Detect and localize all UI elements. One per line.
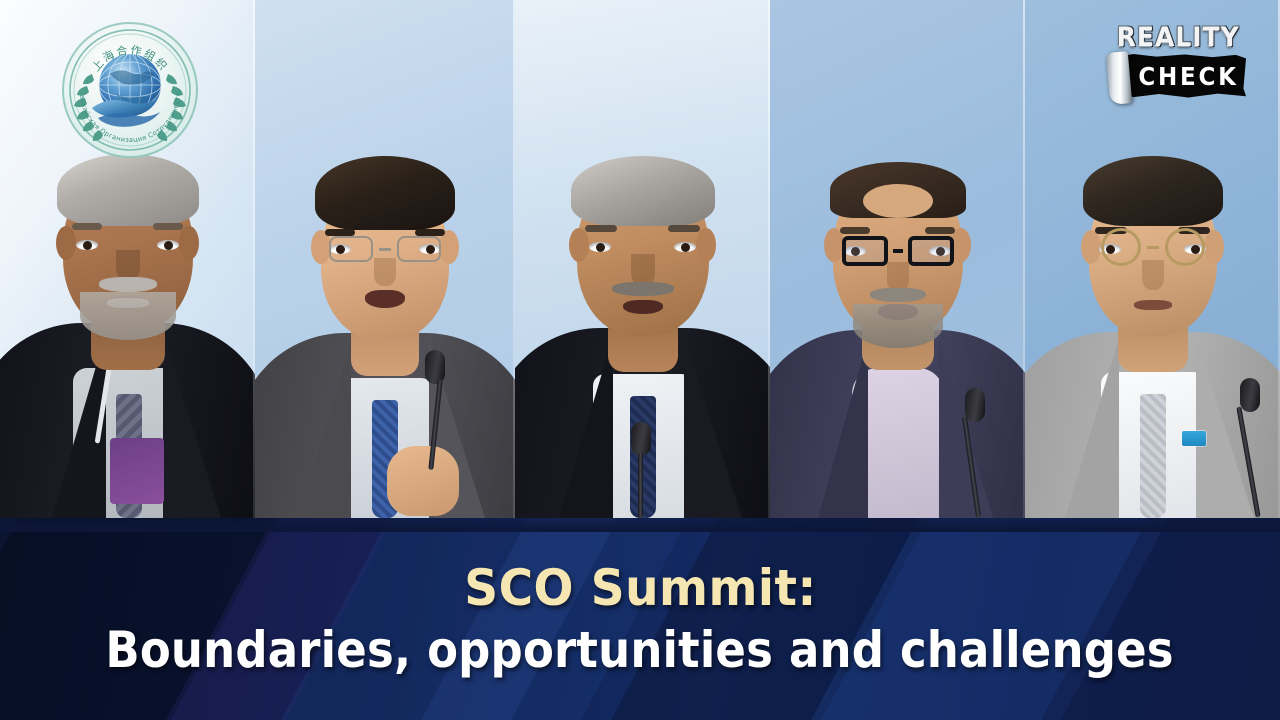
eyebrow-left: [325, 229, 355, 236]
eye-left: [589, 242, 611, 252]
microphone-capsule: [631, 422, 651, 456]
speaker-panel-4: [770, 0, 1025, 518]
necktie: [1140, 394, 1166, 518]
microphone-icon: [421, 350, 451, 470]
eyebrow-left: [72, 223, 102, 230]
sco-emblem: 上海合作组织 Шанхайская Организация Сотрудниче…: [62, 22, 198, 158]
jacket-lapel-right: [163, 332, 221, 518]
jacket-lapel-left: [818, 338, 868, 518]
moustache: [870, 288, 926, 302]
eyebrow-right: [668, 225, 700, 232]
pupil-right: [164, 241, 173, 250]
eye-right: [157, 240, 179, 250]
jacket-lapel-left: [1065, 338, 1119, 518]
lanyard-badge: [110, 438, 164, 504]
logo-word-check: CHECK: [1138, 62, 1238, 91]
jacket-lapel-right: [684, 336, 742, 518]
speaker-portrait-2: [255, 0, 515, 518]
microphone-stem: [638, 452, 643, 518]
hair: [57, 154, 199, 226]
ear-right: [1204, 230, 1224, 264]
microphone-icon: [961, 388, 991, 518]
eyebrow-left: [840, 227, 870, 234]
hair: [315, 156, 455, 230]
title-banner: SCO Summit: Boundaries, opportunities an…: [0, 518, 1280, 720]
nose: [374, 258, 396, 286]
logo-word-reality: REALITY: [1117, 22, 1240, 53]
hair: [1083, 156, 1223, 226]
microphone-stem: [1236, 406, 1260, 517]
ear-right: [179, 226, 199, 260]
lens-left: [1101, 228, 1141, 266]
mouth: [623, 300, 663, 314]
moustache: [612, 282, 674, 296]
speaker-panel-2: [255, 0, 515, 518]
speaker-portrait-3: [515, 0, 770, 518]
lens-right: [1165, 228, 1205, 266]
pupil-right: [681, 243, 690, 252]
microphone-stem: [428, 380, 442, 470]
speaker-panel-3: [515, 0, 770, 518]
ear-right: [951, 228, 971, 262]
lens-right: [397, 236, 441, 262]
microphone-capsule: [1240, 378, 1260, 412]
title-block: SCO Summit: Boundaries, opportunities an…: [0, 518, 1280, 720]
jacket-lapel-left: [559, 336, 613, 518]
beard: [853, 304, 943, 348]
hair: [571, 156, 715, 226]
pupil-left: [596, 243, 605, 252]
eyebrow-right: [925, 227, 955, 234]
broadcast-frame: 上海合作组织 Шанхайская Организация Сотрудниче…: [0, 0, 1280, 720]
eyebrow-right: [415, 229, 445, 236]
headline-secondary: Boundaries, opportunities and challenges: [106, 621, 1174, 679]
mouth: [1134, 300, 1172, 310]
glasses-bridge: [1147, 246, 1159, 249]
jacket-lapel-left: [299, 340, 351, 518]
beard: [80, 292, 176, 340]
lens-left: [329, 236, 373, 262]
nose: [1142, 260, 1164, 290]
glasses-bridge: [379, 248, 391, 251]
microphone-icon: [1236, 378, 1266, 518]
ear-left: [1081, 230, 1101, 264]
ear-left: [56, 226, 76, 260]
eye-right: [674, 242, 696, 252]
emblem-artwork: 上海合作组织 Шанхайская Организация Сотрудниче…: [62, 22, 198, 158]
flag-lapel-pin-icon: [1182, 431, 1206, 446]
nose: [116, 250, 140, 280]
ear-left: [569, 228, 589, 262]
microphone-capsule: [965, 388, 985, 422]
eyebrow-right: [153, 223, 183, 230]
ear-right: [696, 228, 716, 262]
glasses-bridge: [893, 249, 903, 253]
receding-hairline: [863, 184, 933, 218]
logo-torn-curl: [1106, 51, 1132, 105]
microphone-stem: [962, 416, 981, 518]
lens-left: [842, 236, 888, 266]
speaker-portrait-4: [770, 0, 1025, 518]
pupil-left: [83, 241, 92, 250]
headline-primary: SCO Summit:: [464, 559, 816, 617]
lens-right: [908, 236, 954, 266]
microphone-capsule: [425, 350, 445, 384]
eyebrow-left: [585, 225, 617, 232]
reality-check-logo: REALITY CHECK: [1100, 22, 1250, 108]
mouth: [365, 290, 405, 308]
eye-left: [76, 240, 98, 250]
microphone-icon: [627, 422, 657, 518]
moustache: [99, 277, 157, 292]
